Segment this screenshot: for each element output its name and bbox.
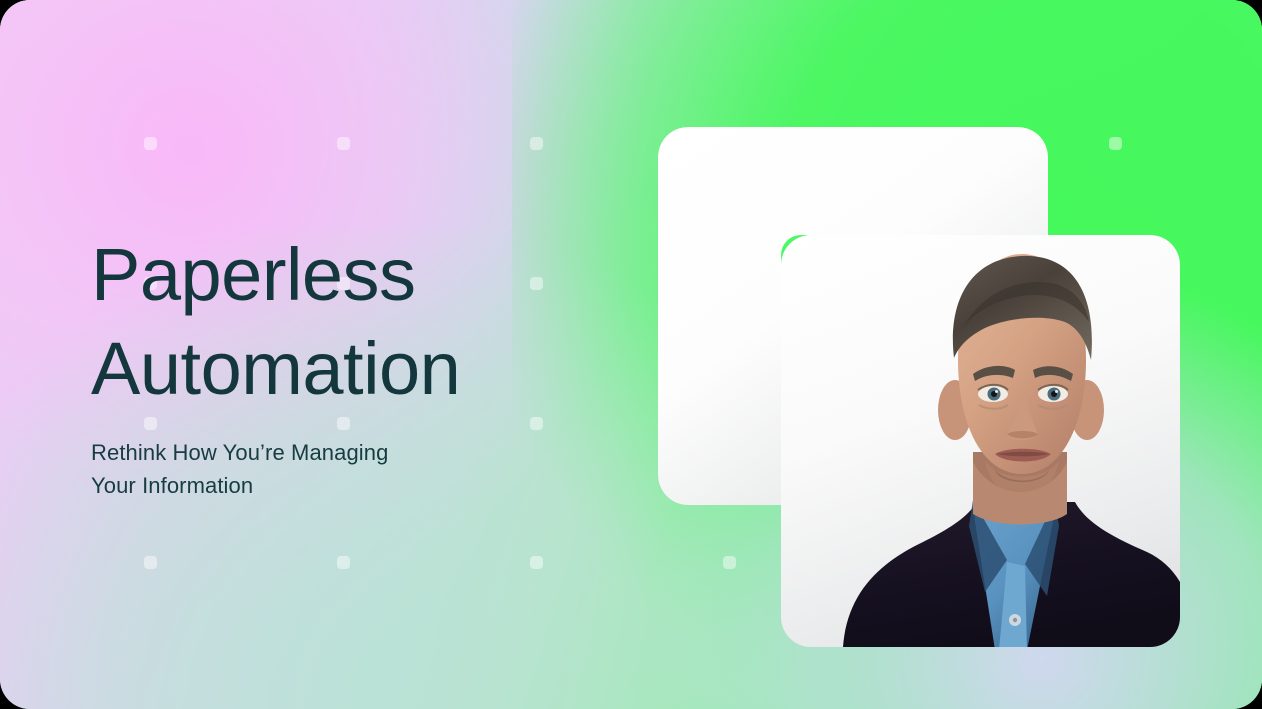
decorative-dot [530,556,543,569]
decorative-dot [144,556,157,569]
decorative-dot [337,137,350,150]
media-composition[interactable] [655,122,1185,652]
decorative-dot [144,137,157,150]
front-panel-card [781,235,1180,647]
slide-canvas: Paperless Automation Rethink How You’re … [0,0,1262,709]
text-block: Paperless Automation Rethink How You’re … [91,228,591,502]
decorative-dot [530,137,543,150]
page-title: Paperless Automation [91,228,591,416]
page-subtitle: Rethink How You’re Managing Your Informa… [91,436,591,502]
decorative-dot [337,556,350,569]
